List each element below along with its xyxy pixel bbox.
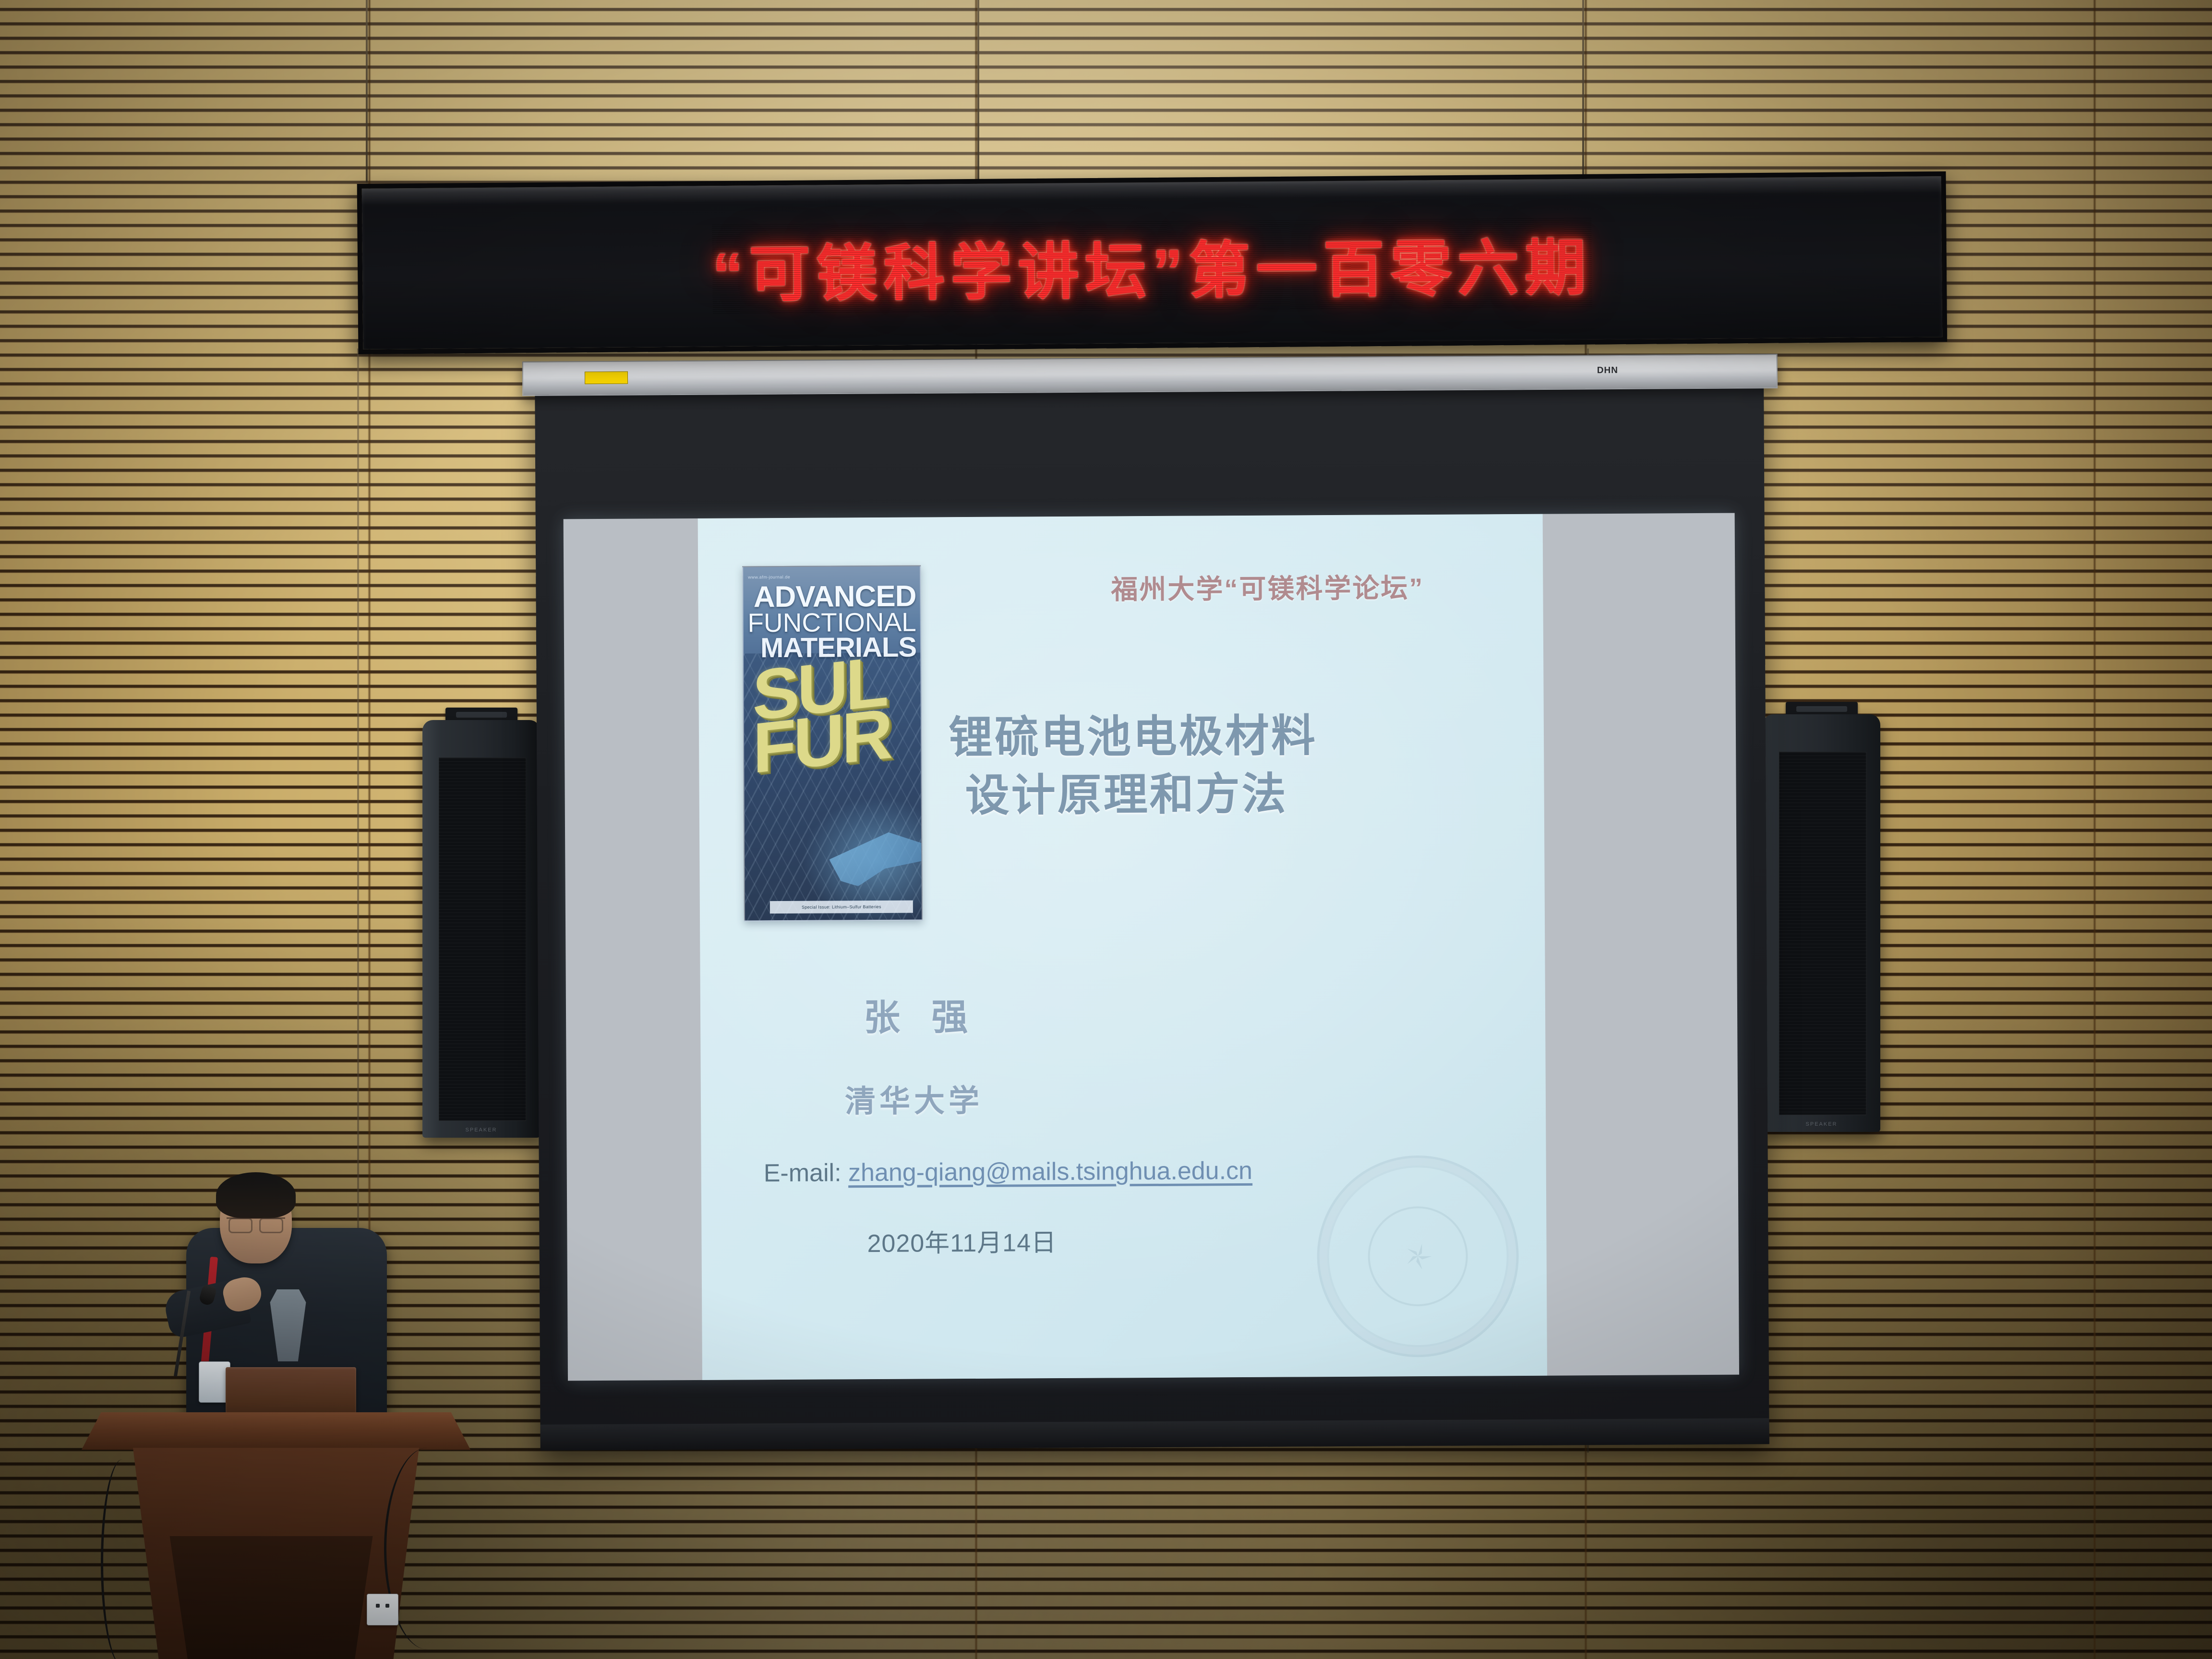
podium-base	[158, 1536, 384, 1659]
speaker-grille	[1779, 752, 1866, 1115]
email-row: E-mail: zhang-qiang@mails.tsinghua.edu.c…	[764, 1156, 1253, 1188]
journal-cover-image: www.afm-journal.de ADVANCED FUNCTIONAL M…	[742, 565, 923, 922]
banner-suspension-wire	[366, 0, 368, 182]
cover-footer-band: Special Issue: Lithium–Sulfur Batteries	[770, 901, 913, 914]
led-banner-text: “可镁科学讲坛”第一百零六期	[712, 218, 1592, 313]
wall-speaker-right: SPEAKER	[1763, 714, 1880, 1132]
speaker-logo-label: SPEAKER	[466, 1127, 497, 1133]
cover-title-line-1: ADVANCED	[747, 583, 916, 611]
speaker-enclosure: SPEAKER	[422, 720, 540, 1138]
banner-suspension-wire	[977, 0, 979, 181]
screen-brand-label: DHN	[1597, 365, 1618, 376]
glasses-icon	[227, 1217, 285, 1230]
presenter-at-podium	[82, 1171, 514, 1659]
presenter-hair	[216, 1172, 296, 1218]
slide-header-text: 福州大学“可镁科学论坛”	[1111, 566, 1524, 607]
cover-masthead-url: www.afm-journal.de	[748, 575, 790, 579]
presenter-head	[220, 1178, 292, 1263]
slide-title-line-1: 锂硫电池电极材料	[949, 706, 1515, 768]
email-label: E-mail:	[764, 1159, 849, 1187]
university-seal-watermark	[1317, 1155, 1519, 1358]
speaker-logo-label: SPEAKER	[1806, 1121, 1838, 1127]
presenter-shirt	[263, 1289, 313, 1361]
speaker-enclosure: SPEAKER	[1763, 714, 1880, 1132]
slide-title-line-2: 设计原理和方法	[949, 764, 1515, 826]
banner-suspension-wire	[1582, 0, 1584, 183]
slide-title: 锂硫电池电极材料 设计原理和方法	[949, 706, 1515, 826]
speaker-grille	[439, 757, 526, 1121]
presentation-slide: 福州大学“可镁科学论坛” www.afm-journal.de ADVANCED…	[698, 514, 1547, 1380]
email-address-link[interactable]: zhang-qiang@mails.tsinghua.edu.cn	[848, 1157, 1252, 1187]
wall-panel-joint	[2093, 0, 2096, 1659]
projected-image: 福州大学“可镁科学论坛” www.afm-journal.de ADVANCED…	[564, 513, 1739, 1381]
wall-speaker-left: SPEAKER	[422, 720, 540, 1138]
speaker-name: 张 强	[864, 987, 979, 1041]
wall-power-outlet[interactable]	[367, 1594, 398, 1625]
slide-date: 2020年11月14日	[867, 1222, 1057, 1259]
cover-feature-word: SULFUR	[752, 652, 916, 775]
podium-cable	[101, 1459, 144, 1659]
podium-top-surface	[82, 1412, 470, 1450]
speaker-affiliation: 清华大学	[845, 1076, 983, 1121]
warning-label-icon	[585, 372, 628, 385]
projection-screen: 福州大学“可镁科学论坛” www.afm-journal.de ADVANCED…	[535, 385, 1769, 1450]
led-scrolling-banner: “可镁科学讲坛”第一百零六期	[357, 171, 1948, 354]
